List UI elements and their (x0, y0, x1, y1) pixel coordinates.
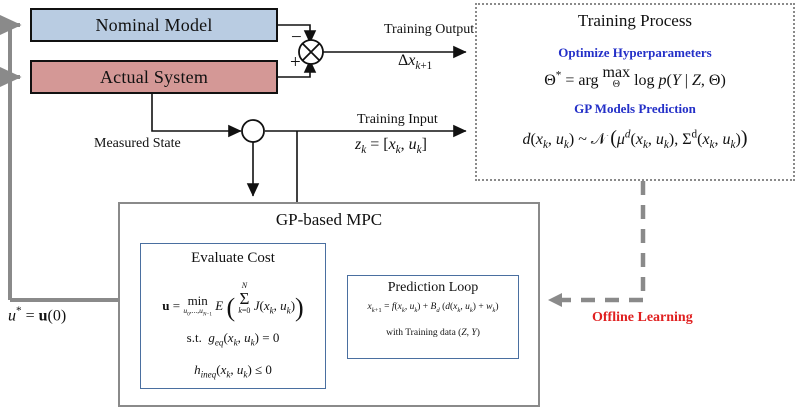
control-output-label: u* = u(0) (8, 305, 66, 325)
training-input-label: Training Input (357, 112, 438, 128)
actual-system-label: Actual System (100, 67, 208, 88)
block-training-process[interactable]: Training Process Optimize Hyperparameter… (475, 3, 795, 181)
training-output-label: Training Output (384, 22, 474, 38)
diagram-canvas: Nominal Model Actual System Training Pro… (0, 0, 800, 411)
mpc-title: GP-based MPC (120, 210, 538, 230)
block-actual-system[interactable]: Actual System (30, 60, 278, 94)
offline-learning-label: Offline Learning (592, 310, 693, 326)
inequality-constraint: hineq(xk, uk) ≤ 0 (141, 362, 325, 380)
hyperparameter-equation: Θ* = arg maxΘ log p(Y | Z, Θ) (477, 65, 793, 90)
gp-prediction-equation: d(xk, uk) ~ 𝒩 (μd(xk, uk), Σd(xk, uk)) (477, 127, 793, 151)
measured-state-label: Measured State (94, 136, 181, 152)
prediction-loop-equation: xk+1 = f(xk, uk) + Bd (d(xk, uk) + wk) (348, 302, 518, 314)
evaluate-cost-title: Evaluate Cost (141, 250, 325, 267)
gp-models-prediction-label: GP Models Prediction (477, 101, 793, 117)
plus-sign-label: + (290, 52, 301, 74)
block-prediction-loop[interactable]: Prediction Loop xk+1 = f(xk, uk) + Bd (d… (347, 275, 519, 359)
branch-node-icon (242, 120, 264, 142)
prediction-loop-title: Prediction Loop (348, 280, 518, 296)
training-output-signal-label: Δxk+1 (398, 52, 432, 72)
prediction-loop-note: with Training data (Z, Y) (348, 328, 518, 338)
training-input-signal-label: zk = [xk, uk] (355, 136, 427, 156)
equality-constraint: s.t. geq(xk, uk) = 0 (141, 330, 325, 348)
block-evaluate-cost[interactable]: Evaluate Cost u = min u0,...,uN−1 E ( N … (140, 243, 326, 389)
minus-sign-label: − (291, 27, 302, 49)
training-process-title: Training Process (477, 11, 793, 31)
summing-junction-icon (299, 40, 323, 64)
nominal-model-label: Nominal Model (95, 15, 212, 36)
optimize-hyperparameters-label: Optimize Hyperparameters (477, 45, 793, 61)
evaluate-cost-objective: u = min u0,...,uN−1 E ( N Σ k=0 J(xk, uk… (141, 282, 325, 323)
block-nominal-model[interactable]: Nominal Model (30, 8, 278, 42)
